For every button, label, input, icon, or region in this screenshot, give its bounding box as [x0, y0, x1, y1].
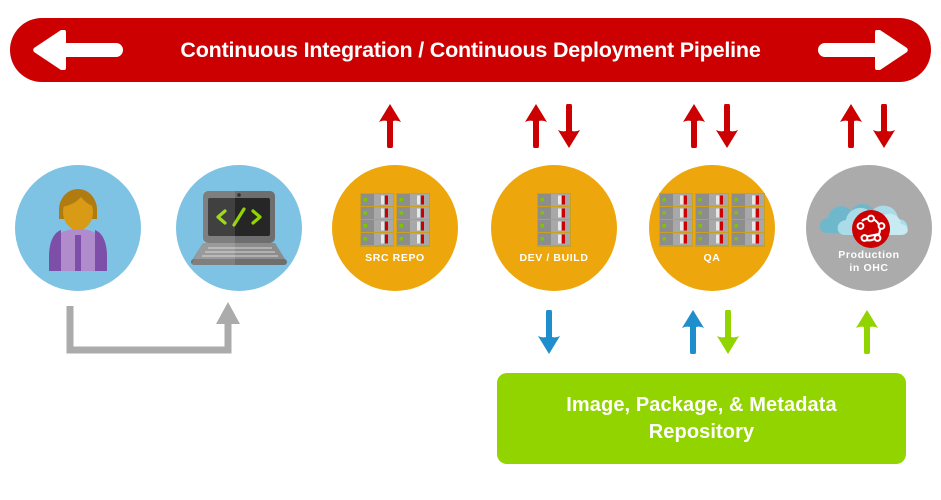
arrow-down-icon-dev-build-to-repo [537, 310, 561, 354]
cicd-pipeline-diagram: Continuous Integration / Continuous Depl… [0, 0, 941, 500]
arrow-down-icon-qa [715, 104, 739, 148]
repository-label: Image, Package, & Metadata Repository [566, 392, 837, 446]
arrow-up-icon-dev-build [524, 104, 548, 148]
node-workstation[interactable] [176, 165, 302, 291]
repository-box[interactable]: Image, Package, & Metadata Repository [497, 373, 906, 464]
arrow-up-icon-qa [682, 104, 706, 148]
server-rack-icon [491, 193, 617, 247]
node-label-dev-build: DEV / BUILD [491, 252, 617, 265]
server-rack-icon [649, 193, 775, 247]
arrow-up-icon-src-repo [378, 104, 402, 148]
arrow-down-icon-repo-to-qa [716, 310, 740, 354]
developer-to-workstation-connector [60, 302, 260, 358]
pipeline-banner: Continuous Integration / Continuous Depl… [10, 18, 931, 82]
node-qa[interactable]: QA [649, 165, 775, 291]
node-src-repo[interactable]: SRC REPO [332, 165, 458, 291]
repository-label-line2: Repository [566, 419, 837, 446]
node-label-production-line2: in OHC [806, 262, 932, 275]
arrow-up-icon-repo-to-production [855, 310, 879, 354]
server-rack-icon [332, 193, 458, 247]
cloud-openshift-icon [806, 187, 932, 249]
arrow-up-icon-qa-to-repo [681, 310, 705, 354]
node-developer[interactable] [15, 165, 141, 291]
node-label-qa: QA [649, 252, 775, 265]
node-label-src-repo: SRC REPO [332, 252, 458, 265]
arrow-down-icon-production [872, 104, 896, 148]
node-dev-build[interactable]: DEV / BUILD [491, 165, 617, 291]
arrow-right-icon [815, 30, 911, 70]
laptop-code-icon [176, 165, 302, 291]
node-production[interactable]: Production in OHC [806, 165, 932, 291]
repository-label-line1: Image, Package, & Metadata [566, 392, 837, 419]
page-title: Continuous Integration / Continuous Depl… [10, 18, 931, 82]
arrow-down-icon-dev-build [557, 104, 581, 148]
arrow-up-icon-production [839, 104, 863, 148]
person-icon [15, 165, 141, 291]
node-label-production-line1: Production [806, 249, 932, 262]
